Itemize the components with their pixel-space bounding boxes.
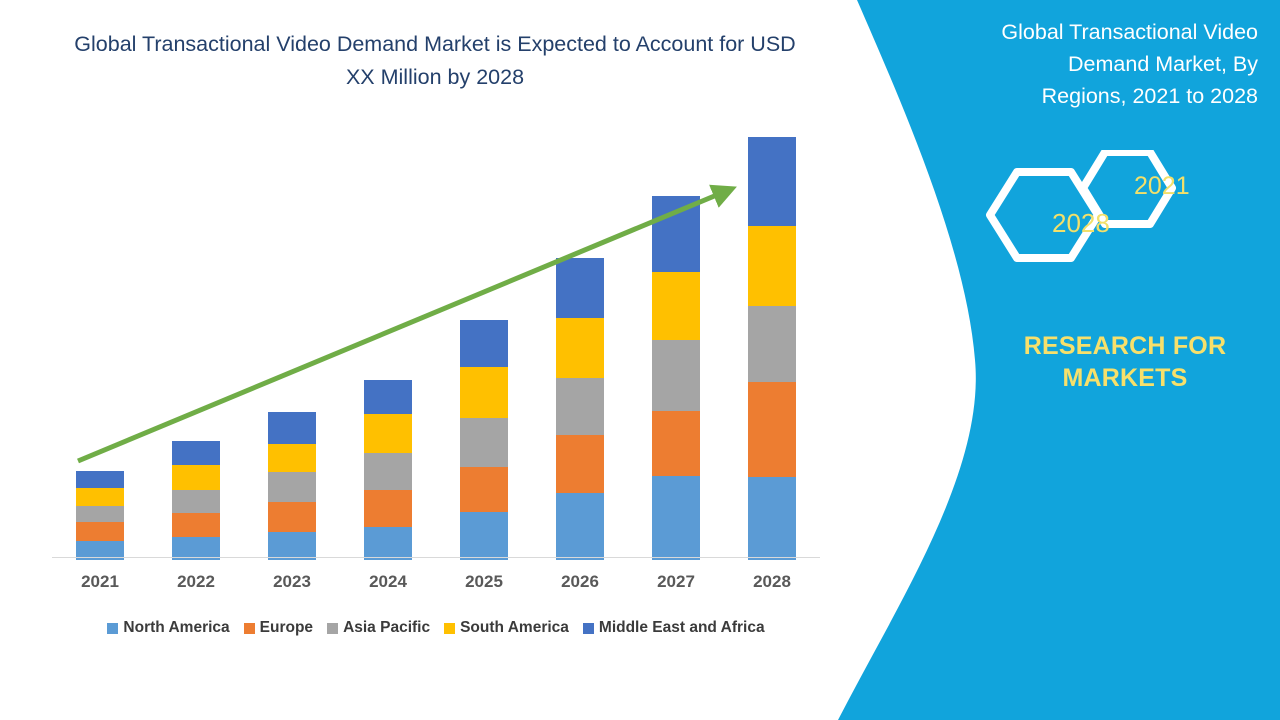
legend-swatch-icon: [244, 623, 255, 634]
brand-wordmark: RESEARCH FOR MARKETS: [970, 330, 1280, 394]
bar-segment: [556, 435, 604, 493]
legend-item[interactable]: Middle East and Africa: [583, 619, 765, 637]
bar-segment: [364, 527, 412, 560]
legend-swatch-icon: [444, 623, 455, 634]
bar-segment: [364, 490, 412, 526]
legend-label: North America: [123, 619, 229, 637]
bar-segment: [460, 367, 508, 417]
bar-segment: [748, 226, 796, 306]
legend-swatch-icon: [583, 623, 594, 634]
bar-segment: [652, 340, 700, 411]
bar-segment: [460, 418, 508, 467]
bar-segment: [268, 444, 316, 472]
panel-title: Global Transactional Video Demand Market…: [970, 16, 1280, 112]
bar-segment: [172, 490, 220, 513]
legend-label: Asia Pacific: [343, 619, 430, 637]
hexagon-2021-label: 2021: [1134, 172, 1190, 201]
bar-segment: [556, 318, 604, 377]
bar-segment: [556, 378, 604, 435]
chart-legend: North AmericaEuropeAsia PacificSouth Ame…: [52, 616, 820, 640]
x-axis-label-2024: 2024: [340, 572, 436, 592]
x-axis-label-2027: 2027: [628, 572, 724, 592]
brand-line-1: RESEARCH FOR: [970, 330, 1280, 362]
bar-segment: [748, 306, 796, 382]
bar-2023: [268, 412, 316, 560]
bar-2024: [364, 380, 412, 560]
x-axis-label-2022: 2022: [148, 572, 244, 592]
bar-2028: [748, 137, 796, 560]
bar-segment: [652, 196, 700, 271]
bar-2027: [652, 196, 700, 560]
bar-segment: [268, 532, 316, 560]
bar-segment: [172, 465, 220, 490]
x-axis-labels: 20212022202320242025202620272028: [52, 572, 820, 598]
bar-segment: [364, 414, 412, 453]
x-axis-label-2021: 2021: [52, 572, 148, 592]
hexagon-badges: [970, 150, 1280, 280]
bar-segment: [652, 476, 700, 560]
bar-2026: [556, 258, 604, 560]
legend-item[interactable]: Europe: [244, 619, 313, 637]
bar-segment: [364, 453, 412, 491]
bar-2025: [460, 320, 508, 560]
bar-segment: [652, 272, 700, 340]
bar-segment: [460, 320, 508, 368]
x-axis-line: [52, 557, 820, 558]
right-panel: Global Transactional Video Demand Market…: [970, 0, 1280, 720]
bar-segment: [76, 522, 124, 540]
bar-2021: [76, 471, 124, 560]
x-axis-label-2026: 2026: [532, 572, 628, 592]
legend-swatch-icon: [327, 623, 338, 634]
x-axis-label-2028: 2028: [724, 572, 820, 592]
bar-segment: [172, 513, 220, 537]
legend-item[interactable]: Asia Pacific: [327, 619, 430, 637]
legend-label: Middle East and Africa: [599, 619, 765, 637]
bar-segment: [460, 467, 508, 513]
bar-segment: [556, 258, 604, 318]
x-axis-label-2023: 2023: [244, 572, 340, 592]
bar-segment: [76, 488, 124, 506]
bar-segment: [172, 441, 220, 465]
bar-segment: [652, 411, 700, 476]
legend-item[interactable]: South America: [444, 619, 569, 637]
bar-segment: [76, 506, 124, 522]
bar-segment: [748, 137, 796, 226]
brand-line-2: MARKETS: [970, 362, 1280, 394]
bar-segment: [76, 471, 124, 488]
legend-item[interactable]: North America: [107, 619, 229, 637]
x-axis-label-2025: 2025: [436, 572, 532, 592]
legend-swatch-icon: [107, 623, 118, 634]
bar-segment: [748, 477, 796, 560]
bar-segment: [268, 502, 316, 532]
bar-2022: [172, 441, 220, 560]
bar-segment: [268, 472, 316, 502]
legend-label: South America: [460, 619, 569, 637]
bar-segment: [460, 512, 508, 560]
bar-segment: [748, 382, 796, 477]
stacked-bar-plot: [52, 120, 820, 560]
chart-title: Global Transactional Video Demand Market…: [60, 28, 810, 94]
bar-segment: [556, 493, 604, 560]
bar-segment: [364, 380, 412, 414]
legend-label: Europe: [260, 619, 313, 637]
slide-canvas: Global Transactional Video Demand Market…: [0, 0, 1280, 720]
bar-segment: [268, 412, 316, 444]
hexagon-2028-label: 2028: [1052, 208, 1110, 239]
